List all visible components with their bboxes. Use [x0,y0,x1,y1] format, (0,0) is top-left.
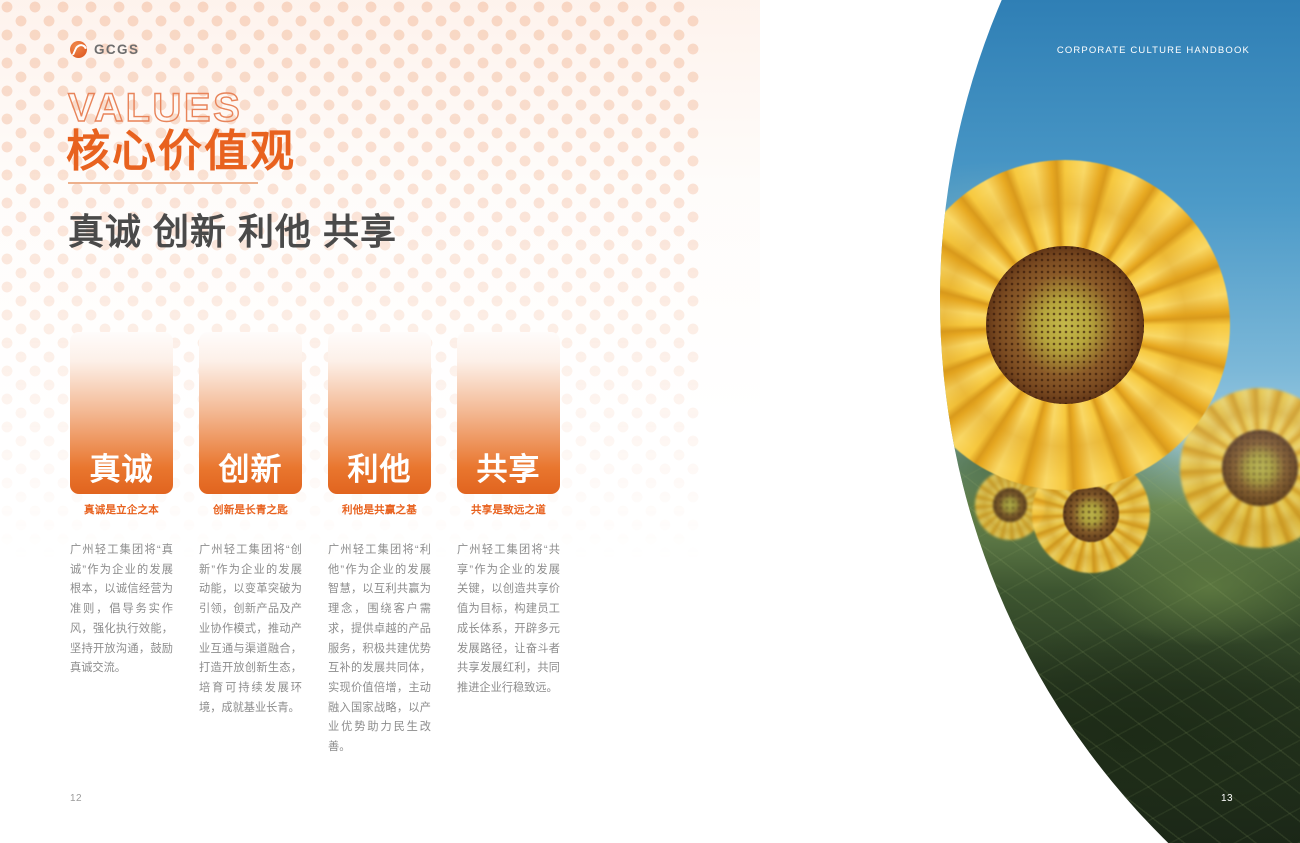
value-card-word: 利他 [328,454,431,485]
photo-circle-clip [540,0,1300,843]
value-card-subtitle: 创新是长青之匙 [199,502,302,517]
value-card-word: 创新 [199,454,302,485]
value-card-panel: 真诚 [70,332,173,494]
title-divider [68,182,258,184]
page-number-right: 13 [1221,793,1233,804]
value-card-subtitle: 真诚是立企之本 [70,502,173,517]
value-card-panel: 共享 [457,332,560,494]
sunflower-icon [780,380,930,530]
value-card-subtitle: 利他是共赢之基 [328,502,431,517]
value-card[interactable]: 利他 利他是共赢之基 [328,332,431,517]
value-description: 广州轻工集团将“共享”作为企业的发展关键，以创造共享价值为目标，构建员工成长体系… [457,541,560,758]
page-eyebrow-values: VALUES [68,88,242,128]
value-card[interactable]: 共享 共享是致远之道 [457,332,560,517]
gcgs-flame-circle-icon [70,41,87,58]
value-card-row: 真诚 真诚是立企之本 创新 创新是长青之匙 利他 利他是共赢之基 共享 共享是致… [70,332,560,517]
value-card-subtitle: 共享是致远之道 [457,502,560,517]
value-card[interactable]: 创新 创新是长青之匙 [199,332,302,517]
corporate-handbook-tag: CORPORATE CULTURE HANDBOOK [1057,45,1250,56]
value-card-word: 共享 [457,454,560,485]
value-card-panel: 利他 [328,332,431,494]
value-description-row: 广州轻工集团将“真诚”作为企业的发展根本，以诚信经营为准则，倡导务实作风，强化执… [70,541,560,758]
value-card[interactable]: 真诚 真诚是立企之本 [70,332,173,517]
logo-wordmark: GCGS [94,42,139,57]
values-slogan: 真诚 创新 利他 共享 [68,203,397,255]
value-description: 广州轻工集团将“利他”作为企业的发展智慧，以互利共赢为理念，围绕客户需求，提供卓… [328,541,431,758]
value-card-panel: 创新 [199,332,302,494]
sunflower-stem [855,438,880,691]
sunflower-photo [540,0,1300,843]
brand-logo[interactable]: GCGS [70,41,139,58]
value-description: 广州轻工集团将“创新”作为企业的发展动能，以变革突破为引领，创新产品及产业协作模… [199,541,302,758]
page-title: 核心价值观 [66,128,296,176]
sunflower-stem [715,506,740,709]
value-description: 广州轻工集团将“真诚”作为企业的发展根本，以诚信经营为准则，倡导务实作风，强化执… [70,541,173,758]
value-card-word: 真诚 [70,454,173,485]
spread-page: GCGS CORPORATE CULTURE HANDBOOK VALUES 核… [0,0,1300,843]
sunflower-photo-panel [540,0,1300,843]
page-number-left: 12 [70,793,82,804]
sunflower-icon [900,160,1230,490]
